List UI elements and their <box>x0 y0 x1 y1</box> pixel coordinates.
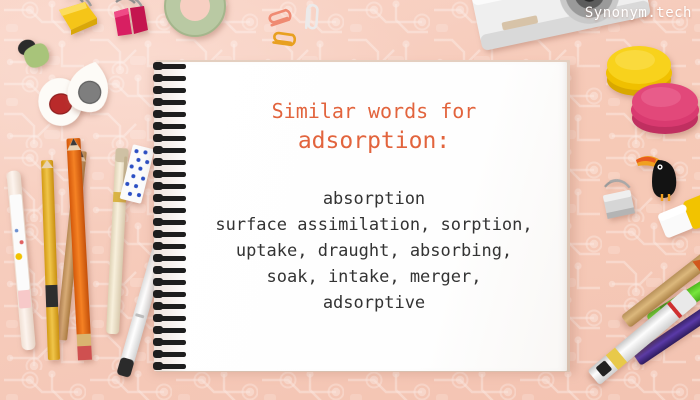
synonym-line: soak, intake, merger, <box>188 264 560 290</box>
synonym-line: uptake, draught, absorbing, <box>188 238 560 264</box>
page-headword: adsorption: <box>188 126 560 156</box>
page-heading: Similar words for adsorption: <box>188 62 560 156</box>
synonym-line: adsorptive <box>188 290 560 316</box>
page-title-prefix: Similar words for <box>188 98 560 124</box>
binder-clip-pink <box>108 0 156 42</box>
synonym-line: surface assimilation, sorption, <box>188 212 560 238</box>
paperclip-white <box>299 0 321 33</box>
binder-clip-silver <box>594 174 646 226</box>
washi-tape-roll-green <box>162 0 228 38</box>
screenshot-root: Similar words for adsorption: absorption… <box>0 0 700 400</box>
site-logo[interactable]: Synonym.tech <box>585 5 692 21</box>
binder-clip-yellow <box>55 0 101 38</box>
page-content: Similar words for adsorption: absorption… <box>188 62 560 371</box>
macaron-pink <box>629 76 700 136</box>
synonym-list: absorption surface assimilation, sorptio… <box>188 186 560 316</box>
synonym-line: absorption <box>188 186 560 212</box>
